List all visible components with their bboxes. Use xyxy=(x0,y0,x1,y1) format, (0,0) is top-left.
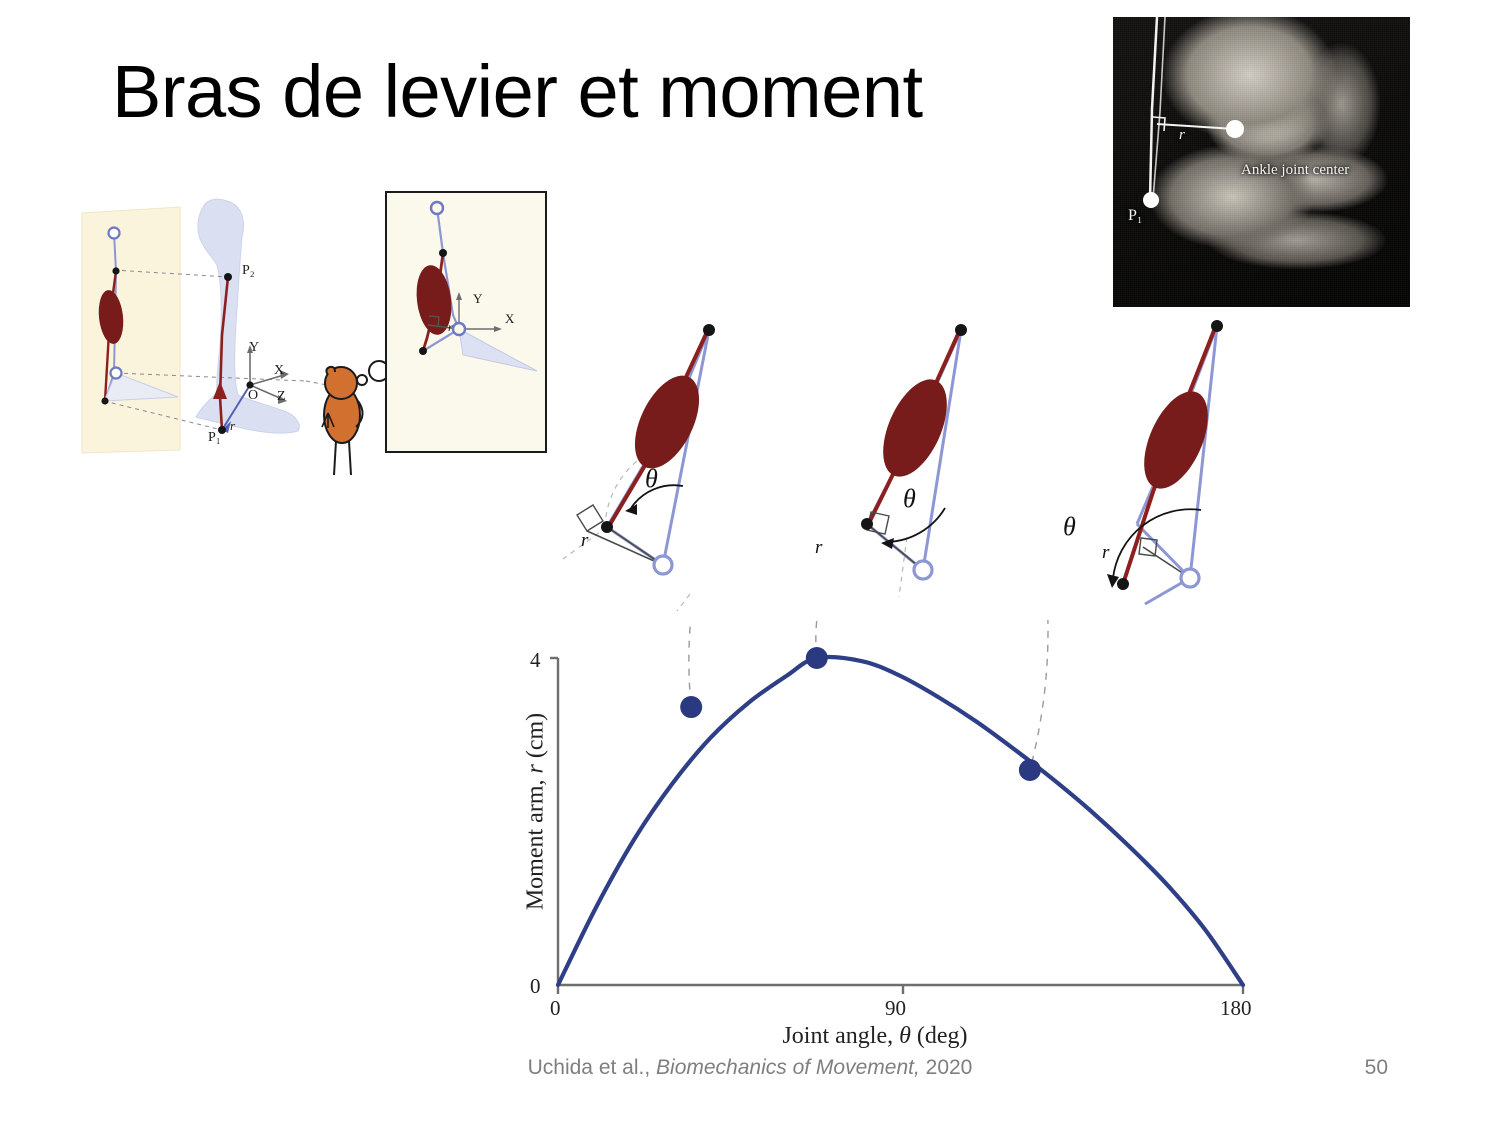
insertion-dot-1 xyxy=(601,521,613,533)
mri-p1-label: P₁ xyxy=(1128,207,1142,225)
theta-arc-2 xyxy=(887,508,945,542)
slide-number: 50 xyxy=(1365,1056,1388,1080)
citation-book-title: Biomechanics of Movement, xyxy=(656,1056,920,1079)
limb-posture-diagram-3: θ r xyxy=(1045,312,1265,612)
x-tick-label-90: 90 xyxy=(885,996,906,1021)
inset-graphic xyxy=(387,193,545,451)
inset-label-x: X xyxy=(505,311,514,327)
mri-r-label: r xyxy=(1179,127,1185,144)
chart-leader-lines xyxy=(689,620,1048,770)
limb-posture-diagram-2: θ r xyxy=(795,312,1015,612)
joint-center-dot-2 xyxy=(914,561,932,579)
segment-distal-3 xyxy=(1137,524,1190,604)
label-axis-x: X xyxy=(274,363,284,379)
mri-ankle-image: r Ankle joint center P₁ xyxy=(1113,17,1410,307)
moment-arm-line-2 xyxy=(867,524,923,570)
label-origin: O xyxy=(248,388,258,404)
observer-leg-left xyxy=(334,441,336,475)
p2-marker-3d xyxy=(224,273,232,281)
inset-p2-marker xyxy=(439,249,447,257)
inset-label-r: r xyxy=(448,320,453,335)
y-tick-label-4: 4 xyxy=(530,648,541,673)
projected-p2-marker xyxy=(112,267,119,274)
insertion-dot-3 xyxy=(1117,578,1129,590)
chart-marker-1 xyxy=(680,696,702,718)
origin-dot-3 xyxy=(1211,320,1223,332)
r-label-1: r xyxy=(581,530,588,552)
projected-hip-marker xyxy=(109,228,120,239)
footer-citation: Uchida et al., Biomechanics of Movement,… xyxy=(0,1056,1500,1080)
y-axis-title: Moment arm, r (cm) xyxy=(523,682,550,942)
label-p1: P₁ xyxy=(208,430,221,446)
joint-center-dot-3 xyxy=(1181,569,1199,587)
theta-arrowhead-3 xyxy=(1107,574,1119,588)
leader-line-1 xyxy=(689,620,695,707)
thought-bubble-small xyxy=(357,375,367,385)
moment-arm-curve xyxy=(558,657,1243,985)
citation-suffix: 2020 xyxy=(920,1056,973,1079)
x-tick-label-0: 0 xyxy=(550,996,561,1021)
insertion-dot-2 xyxy=(861,518,873,530)
label-axis-z: Z xyxy=(277,389,286,405)
joint-center-dot-1 xyxy=(654,556,672,574)
r-label-2: r xyxy=(815,537,822,559)
limb-graphic-3 xyxy=(1045,312,1265,612)
mri-ankle-joint-center-label: Ankle joint center xyxy=(1241,162,1349,179)
x-tick-label-180: 180 xyxy=(1220,996,1252,1021)
three-d-leg-graphic xyxy=(70,185,390,480)
leader-line-3 xyxy=(1030,620,1048,770)
page-title: Bras de levier et moment xyxy=(112,55,923,129)
observer-leg-right xyxy=(349,441,351,475)
chart-marker-2 xyxy=(806,647,828,669)
limb-posture-diagram-1: θ r xyxy=(545,312,765,612)
inset-axis-x-arrow xyxy=(494,326,502,332)
projected-p1-marker xyxy=(101,397,108,404)
muscle-belly-3 xyxy=(1131,382,1221,498)
three-d-leg-diagram: P₂ P₁ X Y Z O r xyxy=(70,185,390,480)
tendon-line xyxy=(1150,17,1157,200)
inset-joint-marker xyxy=(453,323,465,335)
projected-joint-marker xyxy=(111,368,122,379)
label-axis-y: Y xyxy=(249,340,259,356)
theta-label-1: θ xyxy=(645,464,658,494)
projected-view-inset: X Y r xyxy=(385,191,547,453)
moment-arm-line xyxy=(1157,124,1235,129)
limb-graphic-2 xyxy=(795,312,1015,612)
perpendicular-segment-1 xyxy=(587,531,663,565)
chart-marker-3 xyxy=(1019,759,1041,781)
inset-hip-marker xyxy=(431,202,443,214)
observer-figure xyxy=(322,361,389,475)
origin-dot-2 xyxy=(955,324,967,336)
dash-guide-1b xyxy=(677,594,690,611)
theta-label-3: θ xyxy=(1063,512,1076,542)
inset-label-y: Y xyxy=(473,291,482,307)
limb-graphic-1 xyxy=(545,312,765,612)
label-moment-arm-r: r xyxy=(230,418,235,434)
inset-axis-y-arrow xyxy=(456,292,462,300)
ankle-joint-center-dot xyxy=(1226,120,1244,138)
projection-plane xyxy=(82,207,180,453)
moment-arm-chart: 4 0 0 90 180 Moment arm, r (cm) Joint an… xyxy=(480,620,1300,1050)
r-label-3: r xyxy=(1102,542,1109,564)
citation-prefix: Uchida et al., xyxy=(528,1056,656,1079)
y-tick-label-0: 0 xyxy=(530,974,541,999)
inset-foot-shadow xyxy=(459,329,537,371)
theta-label-2: θ xyxy=(903,484,916,514)
chart-plot-area xyxy=(480,620,1300,1050)
x-axis-title: Joint angle, θ (deg) xyxy=(675,1023,1075,1050)
label-p2: P₂ xyxy=(242,263,255,279)
p1-dot xyxy=(1143,192,1159,208)
inset-p1-marker xyxy=(419,347,427,355)
theta-arrowhead-1 xyxy=(625,504,637,515)
origin-dot-1 xyxy=(703,324,715,336)
right-angle-box-1 xyxy=(577,505,603,531)
dash-guide-2 xyxy=(899,537,907,597)
